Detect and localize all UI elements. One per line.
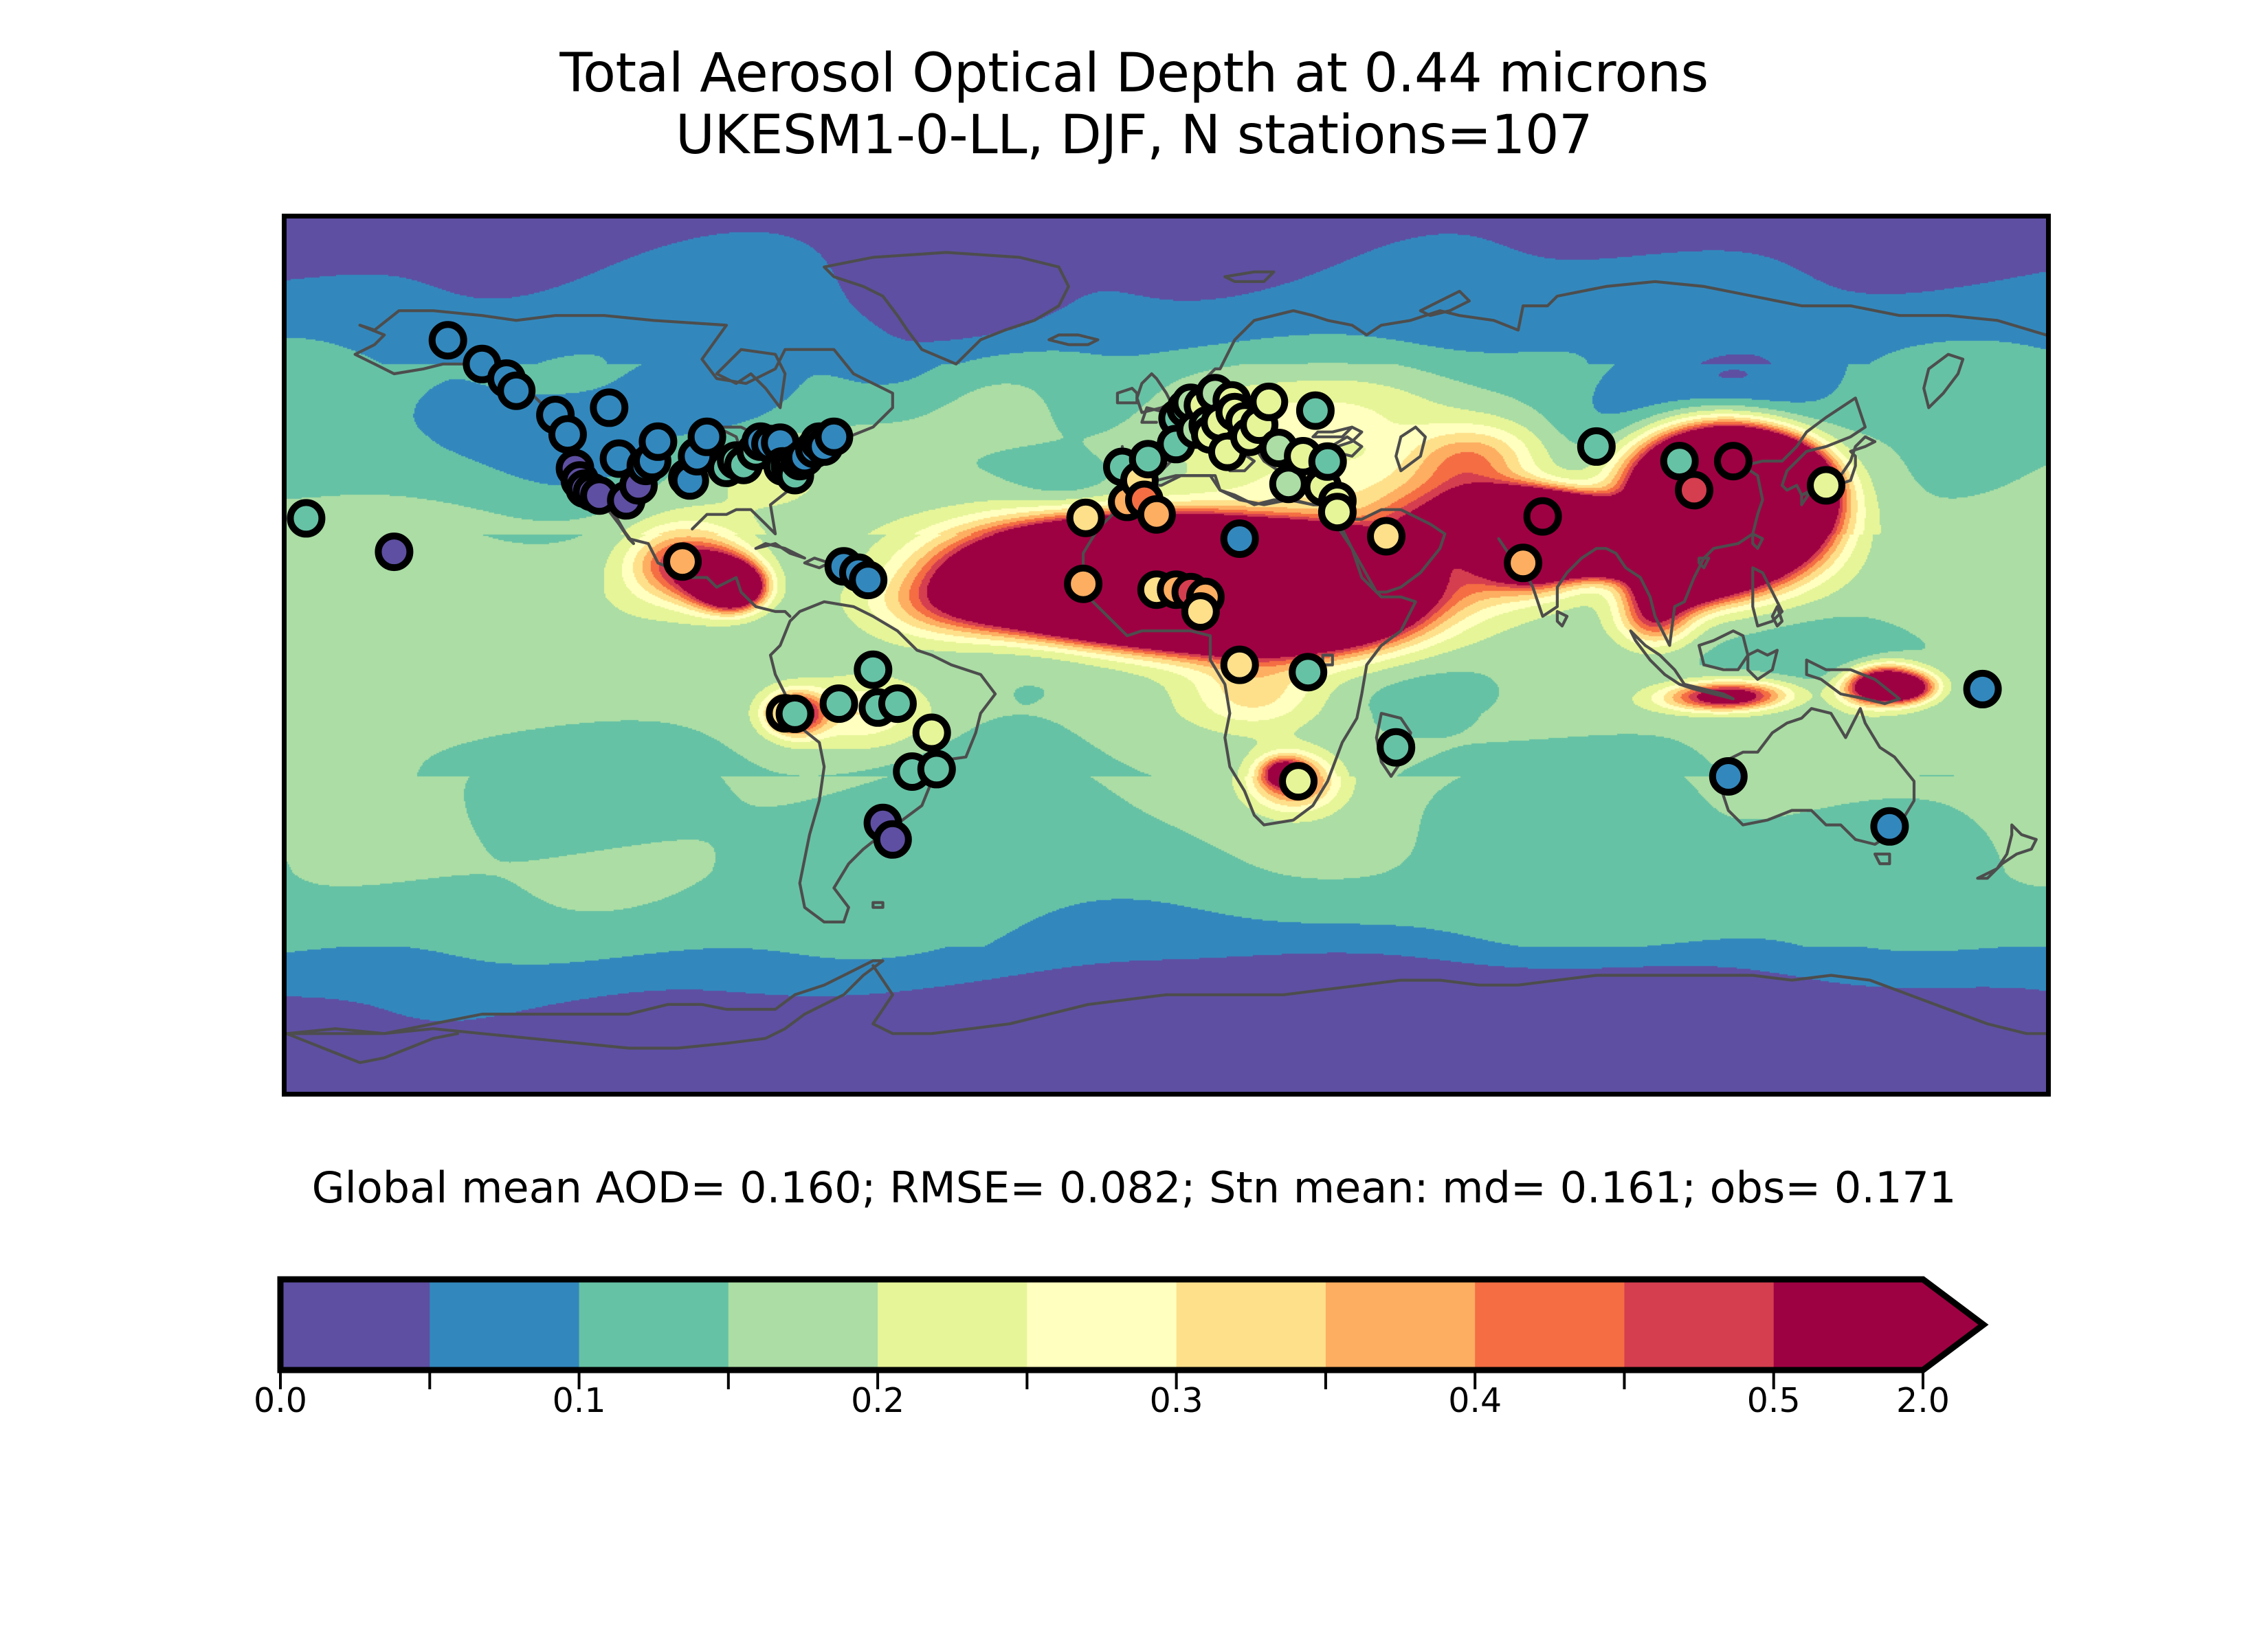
station-marker xyxy=(1141,499,1172,530)
colorbar-band xyxy=(729,1279,878,1370)
station-marker xyxy=(378,536,410,568)
colorbar-band xyxy=(878,1279,1027,1370)
station-marker xyxy=(432,324,464,356)
station-marker xyxy=(500,375,532,407)
station-marker xyxy=(877,824,909,855)
station-marker xyxy=(1322,496,1353,528)
station-marker xyxy=(1067,568,1099,600)
figure-root: Total Aerosol Optical Depth at 0.44 micr… xyxy=(0,0,2268,1649)
station-marker xyxy=(1717,445,1749,477)
station-marker xyxy=(667,546,698,577)
station-marker xyxy=(691,421,723,453)
map-axes xyxy=(282,214,2051,1097)
title-line-2: UKESM1-0-LL, DJF, N stations=107 xyxy=(0,104,2268,166)
station-marker xyxy=(1300,395,1331,427)
station-marker xyxy=(642,426,674,458)
station-marker xyxy=(818,421,849,453)
colorbar-tick-label: 0.4 xyxy=(1448,1381,1502,1420)
statistics-text: Global mean AOD= 0.160; RMSE= 0.082; Stn… xyxy=(0,1163,2268,1213)
station-marker xyxy=(1224,523,1256,554)
station-marker xyxy=(552,418,583,450)
figure-title: Total Aerosol Optical Depth at 0.44 micr… xyxy=(0,43,2268,167)
map-plot-area xyxy=(287,218,2046,1092)
colorbar-band xyxy=(1774,1279,1983,1370)
colorbar-tick-label: 0.5 xyxy=(1747,1381,1801,1420)
colorbar-swatches xyxy=(280,1279,1983,1370)
station-marker xyxy=(1810,469,1842,501)
station-marker xyxy=(1370,521,1402,552)
station-marker xyxy=(1874,811,1905,842)
station-marker xyxy=(921,753,953,785)
station-marker xyxy=(1380,732,1412,763)
station-marker xyxy=(882,688,913,719)
colorbar-band xyxy=(1326,1279,1476,1370)
station-marker xyxy=(1292,656,1324,688)
colorbar-tick-label: 0.2 xyxy=(851,1381,904,1420)
station-marker xyxy=(852,564,884,596)
station-marker xyxy=(1070,502,1102,534)
station-marker xyxy=(1282,765,1314,797)
station-marker xyxy=(593,392,625,423)
station-marker xyxy=(1713,761,1744,792)
station-marker xyxy=(1253,386,1285,418)
station-marker xyxy=(1312,446,1344,478)
colorbar: 0.00.10.20.30.40.52.0 xyxy=(280,1279,1983,1431)
station-marker xyxy=(857,654,889,686)
colorbar-band xyxy=(1475,1279,1625,1370)
station-marker xyxy=(1185,596,1216,627)
station-marker xyxy=(1527,501,1559,532)
station-marker xyxy=(1224,649,1256,681)
colorbar-tick-label: 2.0 xyxy=(1896,1381,1950,1420)
station-markers-layer xyxy=(287,218,2046,1092)
colorbar-band xyxy=(430,1279,579,1370)
colorbar-band xyxy=(1177,1279,1326,1370)
station-marker xyxy=(779,698,811,730)
colorbar-band xyxy=(280,1279,430,1370)
station-marker xyxy=(1967,673,1999,705)
colorbar-band xyxy=(1027,1279,1177,1370)
station-marker xyxy=(1507,547,1539,579)
colorbar-tick-label: 0.0 xyxy=(254,1381,307,1420)
station-marker xyxy=(1678,474,1710,506)
station-marker xyxy=(290,502,322,534)
colorbar-band xyxy=(579,1279,729,1370)
title-line-1: Total Aerosol Optical Depth at 0.44 micr… xyxy=(0,43,2268,104)
colorbar-tick-label: 0.3 xyxy=(1150,1381,1203,1420)
colorbar-tick-label: 0.1 xyxy=(553,1381,606,1420)
station-marker xyxy=(916,717,948,749)
colorbar-band xyxy=(1624,1279,1774,1370)
station-marker xyxy=(823,688,855,719)
station-marker xyxy=(1581,431,1612,462)
